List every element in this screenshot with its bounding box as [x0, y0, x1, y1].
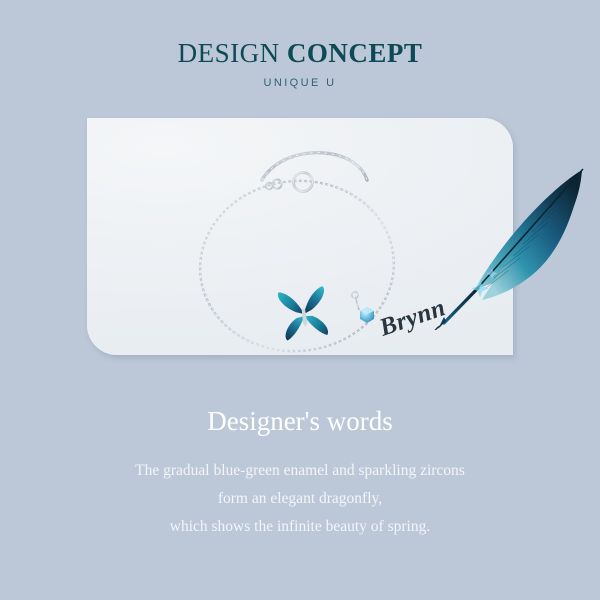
- designer-words-line-1: The gradual blue-green enamel and sparkl…: [0, 457, 600, 485]
- dragonfly-bracelet-image: Brynn: [87, 118, 513, 355]
- dragonfly-charm: [278, 286, 331, 341]
- designer-words-section: Designer's words The gradual blue-green …: [0, 404, 600, 541]
- product-card-surface: Brynn: [87, 118, 513, 355]
- svg-text:Brynn: Brynn: [375, 294, 449, 342]
- designer-words-line-2: form an elegant dragonfly,: [0, 485, 600, 513]
- zircon-drop-charm: [352, 292, 374, 323]
- bracelet-extender-chain: [262, 153, 367, 180]
- page-title-light: DESIGN: [178, 38, 280, 68]
- handwritten-signature: Brynn: [375, 294, 449, 342]
- designer-words-heading: Designer's words: [0, 404, 600, 438]
- page-subtitle: UNIQUE U: [0, 68, 600, 90]
- page-title-bold: CONCEPT: [287, 38, 423, 68]
- product-card: Brynn: [87, 118, 513, 355]
- designer-words-body: The gradual blue-green enamel and sparkl…: [0, 438, 600, 541]
- page-header: DESIGN CONCEPT UNIQUE U: [0, 0, 600, 90]
- page-title: DESIGN CONCEPT: [0, 0, 600, 68]
- designer-words-line-3: which shows the infinite beauty of sprin…: [0, 513, 600, 541]
